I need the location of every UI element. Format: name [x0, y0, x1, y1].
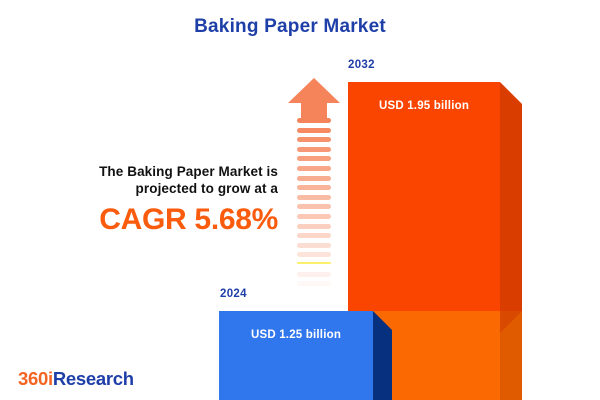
arrow-stripe: [297, 214, 331, 219]
bar-2032-value-label: USD 1.95 billion: [348, 100, 500, 112]
arrow-stripe: [297, 195, 331, 200]
cagr-description-line2: projected to grow at a: [136, 181, 278, 196]
arrow-stripe: [297, 262, 331, 264]
arrow-stripe: [297, 272, 331, 277]
arrow-stripe: [297, 233, 331, 238]
logo-part-360i: 360i: [18, 368, 53, 389]
arrow-stripe: [297, 118, 331, 123]
arrow-stripe: [297, 147, 331, 152]
arrow-shaft-gradient-stripes: [297, 118, 331, 293]
cagr-callout: The Baking Paper Market is projected to …: [10, 163, 278, 237]
page-title: Baking Paper Market: [0, 16, 580, 38]
arrow-stripe: [297, 137, 331, 142]
cagr-description: The Baking Paper Market is projected to …: [10, 163, 278, 197]
logo-part-research: Research: [53, 368, 134, 389]
arrow-head-icon: [288, 78, 340, 118]
bar-2024-front-face: [219, 311, 373, 400]
infographic-canvas: Baking Paper Market 2032 USD 1.95 billio…: [0, 0, 600, 400]
arrow-stripe: [297, 185, 331, 190]
growth-arrow-up-icon: [288, 78, 340, 293]
arrow-stripe: [297, 128, 331, 133]
arrow-stripe: [297, 281, 331, 286]
arrow-stripe: [297, 156, 331, 161]
bar-label-2032: 2032: [348, 59, 375, 71]
arrow-stripe: [297, 204, 331, 209]
arrow-stripe: [297, 252, 331, 257]
bar-label-2024: 2024: [220, 288, 247, 300]
bar-2024-value-label: USD 1.25 billion: [219, 329, 373, 341]
arrow-stripe: [297, 291, 331, 296]
arrow-stripe: [297, 166, 331, 171]
arrow-stripe: [297, 224, 331, 229]
bar-2024: USD 1.25 billion: [219, 311, 392, 400]
cagr-value: CAGR 5.68%: [10, 203, 278, 237]
arrow-stripe: [297, 243, 331, 248]
cagr-description-line1: The Baking Paper Market is: [99, 164, 278, 179]
logo-360iresearch: 360iResearch: [18, 368, 134, 390]
arrow-stripe: [297, 176, 331, 181]
